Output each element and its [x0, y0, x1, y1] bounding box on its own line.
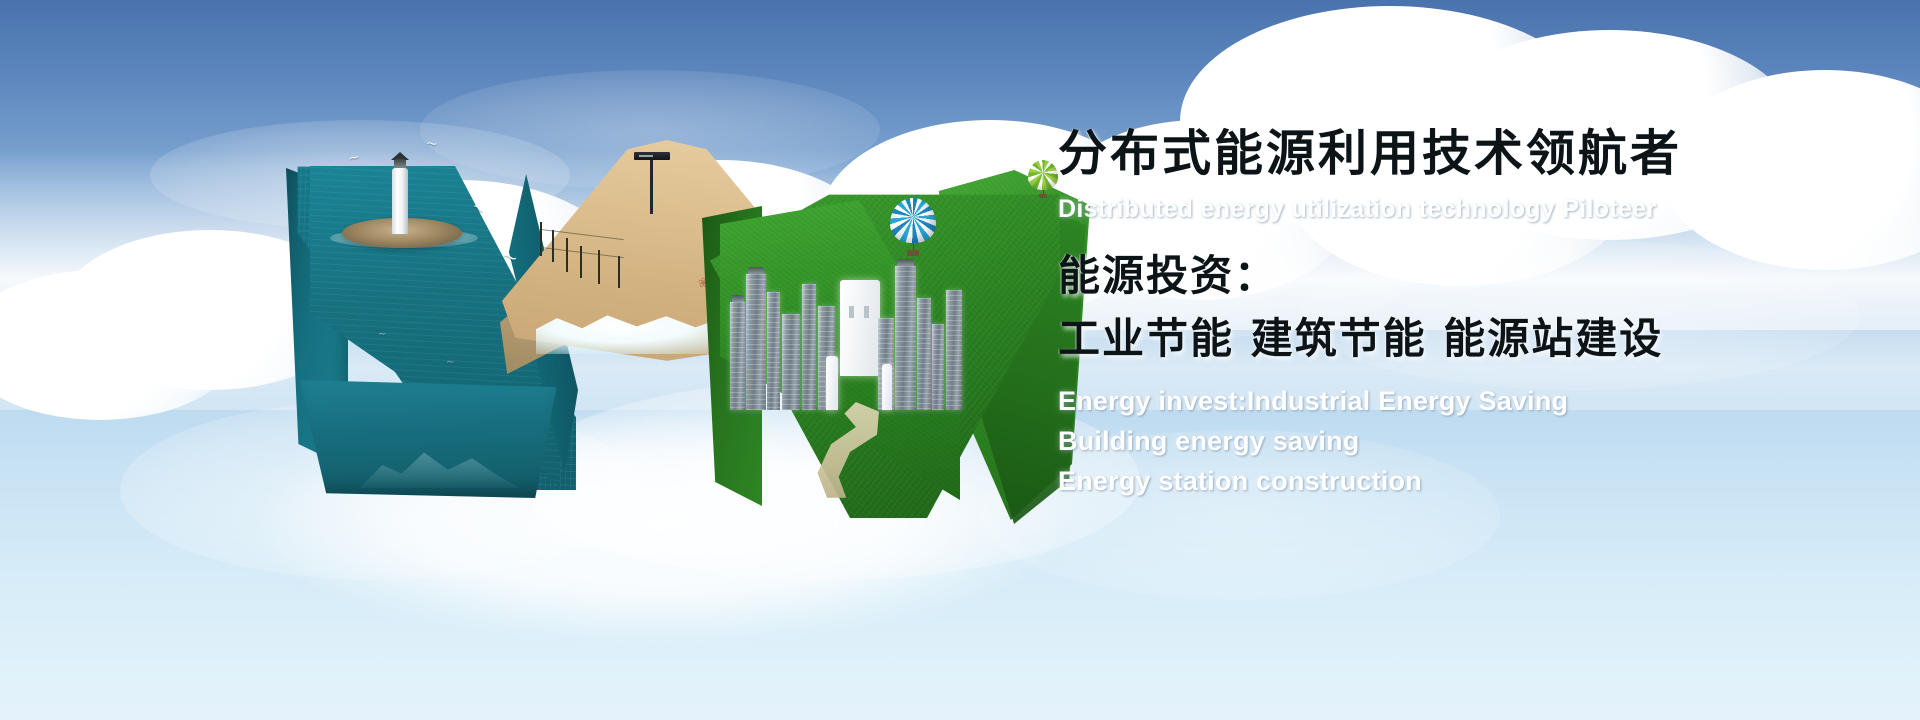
service-english-item: Energy invest:Industrial Energy Saving: [1058, 382, 1858, 422]
balloon-envelope: [890, 198, 936, 243]
hero-banner: ∼ ∼ ∼ ∼ ∼ ∼ ❀ ✿: [0, 0, 1920, 720]
headline-english: Distributed energy utilization technolog…: [1058, 195, 1858, 224]
blue-balloon-icon: [890, 198, 936, 256]
fence-post: [618, 256, 620, 288]
seagull-icon: ∼: [378, 330, 386, 340]
fence-post: [552, 230, 554, 262]
balloon-envelope: [1028, 160, 1058, 190]
lighthouse-body: [392, 168, 408, 234]
white-building: [882, 364, 892, 410]
seagull-icon: ∼: [347, 149, 361, 165]
fence-post: [566, 238, 568, 272]
service-english-item: Building energy saving: [1058, 422, 1858, 462]
w-letter-artwork: ∼ ∼ ∼ ∼ ∼ ∼ ❀ ✿: [250, 130, 1070, 550]
tower: [767, 292, 780, 410]
balloon-basket: [1039, 194, 1046, 198]
fence-post: [540, 222, 542, 256]
tower: [802, 284, 816, 410]
lighthouse-icon: [389, 152, 411, 234]
banner-copy: 分布式能源利用技术领航者 Distributed energy utilizat…: [1058, 128, 1858, 502]
tower-cap: [897, 259, 914, 266]
tower: [895, 266, 916, 410]
services-english-list: Energy invest:Industrial Energy Saving B…: [1058, 382, 1858, 502]
headline-chinese: 分布式能源利用技术领航者: [1058, 128, 1858, 181]
signpost-pole: [650, 156, 653, 214]
seagull-icon: ∼: [446, 358, 454, 368]
signpost-arm: [634, 152, 670, 160]
services-chinese: 工业节能 建筑节能 能源站建设: [1058, 315, 1858, 362]
green-balloon-icon: [1028, 160, 1058, 198]
tower: [746, 274, 766, 410]
service-english-item: Energy station construction: [1058, 462, 1858, 502]
seagull-icon: ∼: [425, 135, 439, 150]
tower: [917, 298, 931, 410]
energy-invest-label: 能源投资：: [1058, 252, 1858, 299]
tower-cap: [748, 267, 764, 274]
balloon-basket: [907, 250, 918, 256]
white-building: [826, 356, 838, 410]
cloud-puff: [0, 270, 240, 420]
tower: [782, 314, 800, 410]
white-building: [840, 280, 880, 376]
signpost-icon: [632, 148, 672, 214]
tower: [946, 290, 962, 410]
tower-cap: [732, 295, 744, 302]
tower: [932, 324, 944, 410]
tower: [730, 302, 745, 410]
